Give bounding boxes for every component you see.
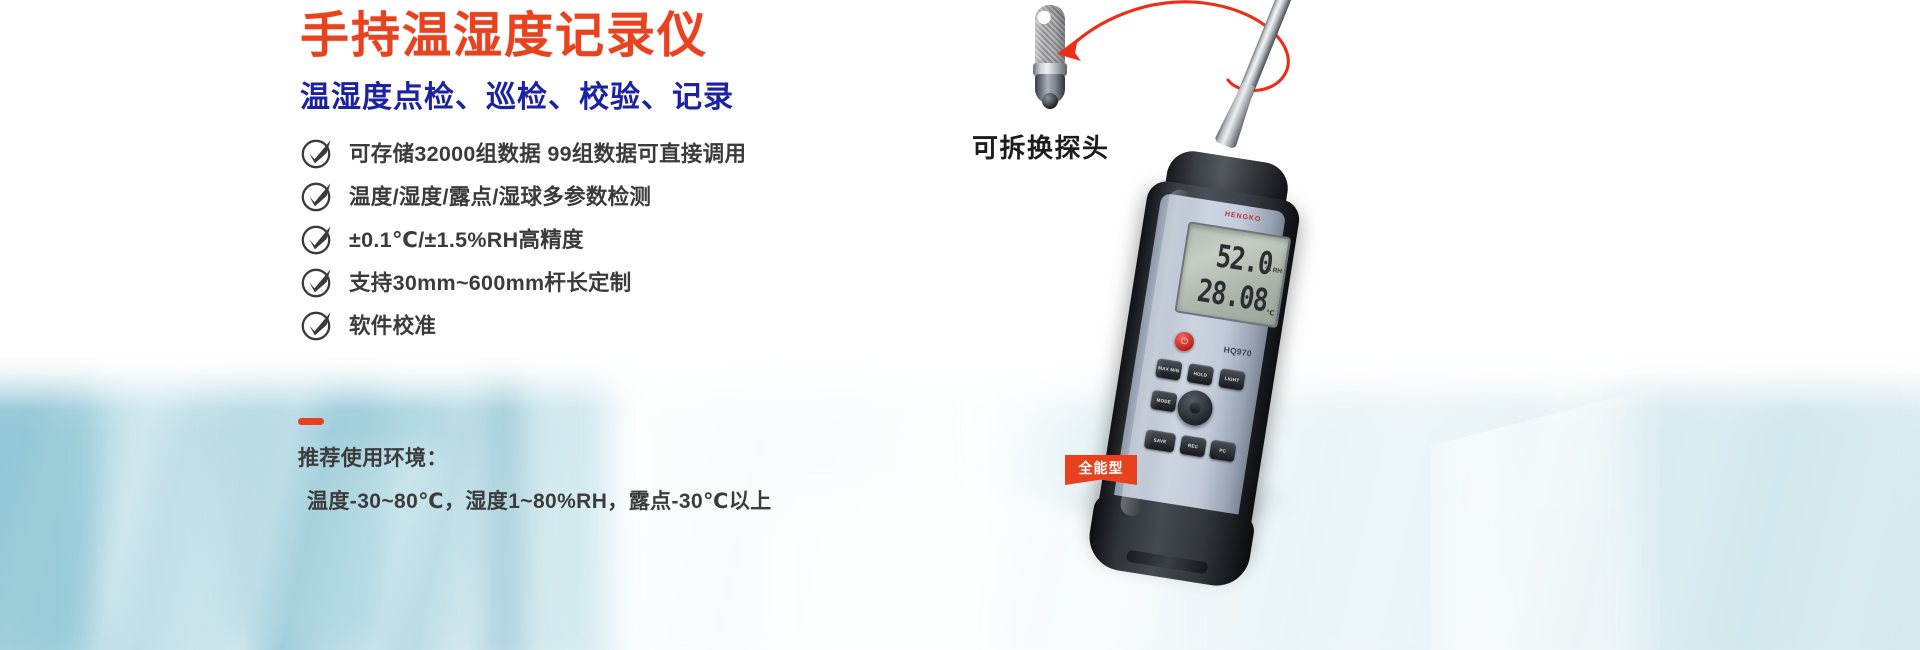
- list-item: 软件校准: [300, 303, 746, 346]
- model-number-label: HQ970: [1223, 344, 1253, 358]
- meter-assembly: HENGKO 52.0 % RH 28.08 ℃ ⏻ HQ970 MAX MIN…: [1060, 60, 1360, 620]
- keypad: MAX MIN HOLD LIGHT MODE SAVE REC PC: [1137, 358, 1247, 495]
- check-circle-icon: [300, 265, 334, 299]
- power-button[interactable]: ⏻: [1173, 331, 1195, 353]
- key-save[interactable]: SAVE: [1144, 429, 1177, 452]
- check-circle-icon: [300, 308, 334, 342]
- list-item: ±0.1℃/±1.5%RH高精度: [300, 217, 746, 260]
- list-item: 可存储32000组数据 99组数据可直接调用: [300, 131, 746, 174]
- recommended-environment-block: 推荐使用环境： 温度-30~80℃，湿度1~80%RH，露点-30℃以上: [298, 418, 772, 515]
- recommended-environment-label: 推荐使用环境：: [298, 442, 772, 472]
- check-circle-icon: [300, 136, 334, 170]
- key-maxmin[interactable]: MAX MIN: [1155, 358, 1183, 381]
- meter-faceplate: HENGKO 52.0 % RH 28.08 ℃ ⏻ HQ970 MAX MIN…: [1110, 193, 1286, 539]
- accent-dash: [298, 418, 324, 425]
- list-item-label: ±0.1℃/±1.5%RH高精度: [349, 223, 584, 254]
- key-mode[interactable]: MODE: [1150, 390, 1178, 413]
- key-pc[interactable]: PC: [1209, 440, 1237, 463]
- product-banner: 手持温湿度记录仪 温湿度点检、巡检、校验、记录 可存储32000组数据 99组数…: [0, 0, 1920, 650]
- handheld-meter: HENGKO 52.0 % RH 28.08 ℃ ⏻ HQ970 MAX MIN…: [1082, 144, 1316, 585]
- list-item-label: 支持30mm~600mm杆长定制: [349, 266, 632, 297]
- banner-copy: 手持温湿度记录仪 温湿度点检、巡检、校验、记录 可存储32000组数据 99组数…: [0, 0, 1000, 650]
- key-light[interactable]: LIGHT: [1218, 368, 1246, 391]
- page-title: 手持温湿度记录仪: [300, 8, 708, 64]
- check-circle-icon: [300, 222, 334, 256]
- list-item: 温度/湿度/露点/湿球多参数检测: [300, 174, 746, 217]
- temperature-unit-label: ℃: [1265, 308, 1275, 317]
- recommended-environment-detail: 温度-30~80℃，湿度1~80%RH，露点-30℃以上: [298, 485, 772, 515]
- product-image-group: 可拆换探头 HENGKO 52.0 % RH 28.08 ℃: [930, 0, 1490, 650]
- stem-base: [1214, 80, 1260, 150]
- lcd-display: 52.0 % RH 28.08 ℃: [1174, 221, 1291, 328]
- list-item-label: 温度/湿度/露点/湿球多参数检测: [349, 180, 651, 211]
- key-rec[interactable]: REC: [1179, 435, 1207, 458]
- page-subtitle: 温湿度点检、巡检、校验、记录: [300, 79, 734, 117]
- list-item-label: 软件校准: [349, 309, 436, 340]
- feature-list: 可存储32000组数据 99组数据可直接调用 温度/湿度/露点/湿球多参数检测: [300, 131, 746, 346]
- list-item: 支持30mm~600mm杆长定制: [300, 260, 746, 303]
- navigation-pad[interactable]: [1175, 388, 1215, 428]
- check-circle-icon: [300, 179, 334, 213]
- list-item-label: 可存储32000组数据 99组数据可直接调用: [349, 137, 746, 168]
- key-hold[interactable]: HOLD: [1187, 363, 1215, 386]
- brand-logo: HENGKO: [1205, 208, 1281, 227]
